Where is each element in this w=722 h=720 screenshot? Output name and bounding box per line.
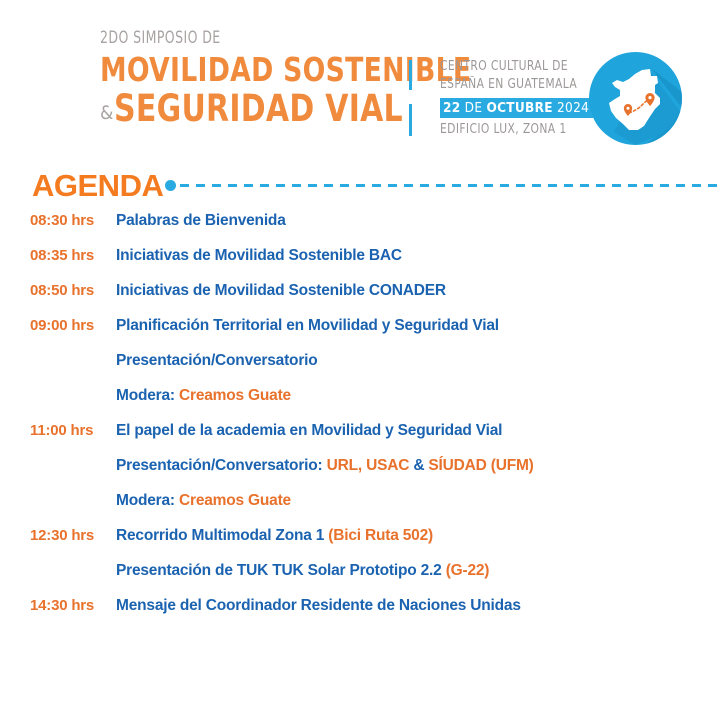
agenda-row-description: Mensaje del Coordinador Residente de Nac… xyxy=(116,597,722,615)
agenda-text-segment: Creamos Guate xyxy=(179,387,291,404)
poster-header: 2DO SIMPOSIO DE MOVILIDAD SOSTENIBLE & S… xyxy=(0,0,722,158)
agenda-row: Modera: Creamos Guate xyxy=(0,492,722,527)
agenda-text-segment: Iniciativas de Movilidad Sostenible CONA… xyxy=(116,282,446,299)
agenda-text-segment: URL, USAC xyxy=(327,457,414,474)
agenda-row-time: 08:50 hrs xyxy=(0,282,116,299)
agenda-row: Presentación de TUK TUK Solar Prototipo … xyxy=(0,562,722,597)
agenda-text-segment: Mensaje del Coordinador Residente de Nac… xyxy=(116,597,521,614)
agenda-text-segment: El papel de la academia en Movilidad y S… xyxy=(116,422,502,439)
agenda-row-time: 11:00 hrs xyxy=(0,422,116,439)
agenda-row-time: 08:30 hrs xyxy=(0,212,116,229)
map-logo-svg xyxy=(589,52,682,145)
agenda-row: Presentación/Conversatorio xyxy=(0,352,722,387)
event-kicker: 2DO SIMPOSIO DE xyxy=(100,30,346,47)
agenda-row-description: Iniciativas de Movilidad Sostenible CONA… xyxy=(116,282,722,300)
agenda-text-segment: Iniciativas de Movilidad Sostenible BAC xyxy=(116,247,402,264)
agenda-row: 08:30 hrsPalabras de Bienvenida xyxy=(0,212,722,247)
agenda-row-description: Presentación/Conversatorio: URL, USAC & … xyxy=(116,457,722,475)
agenda-text-segment: Palabras de Bienvenida xyxy=(116,212,286,229)
venue-line-1: CENTRO CULTURAL DE xyxy=(440,58,569,76)
agenda-text-segment: Modera: xyxy=(116,492,179,509)
date-de: DE xyxy=(465,100,483,116)
agenda-row-description: Palabras de Bienvenida xyxy=(116,212,722,230)
agenda-poster: 2DO SIMPOSIO DE MOVILIDAD SOSTENIBLE & S… xyxy=(0,0,722,720)
agenda-list: 08:30 hrsPalabras de Bienvenida08:35 hrs… xyxy=(0,212,722,632)
agenda-text-segment: Presentación de TUK TUK Solar Prototipo … xyxy=(116,562,446,579)
venue-info: CENTRO CULTURAL DE ESPAÑA EN GUATEMALA 2… xyxy=(440,58,580,139)
agenda-row-description: El papel de la academia en Movilidad y S… xyxy=(116,422,722,440)
agenda-text-segment: Modera: xyxy=(116,387,179,404)
agenda-text-segment: SÍUDAD (UFM) xyxy=(424,457,533,474)
agenda-row-description: Presentación de TUK TUK Solar Prototipo … xyxy=(116,562,722,580)
separator-bar-bottom xyxy=(409,104,412,136)
agenda-text-segment: Presentación/Conversatorio xyxy=(116,352,318,369)
agenda-text-segment: (Bici Ruta 502) xyxy=(328,527,433,544)
event-title-line2-wrap: & SEGURIDAD VIAL xyxy=(100,90,400,129)
agenda-row-time: 08:35 hrs xyxy=(0,247,116,264)
agenda-row: 14:30 hrsMensaje del Coordinador Residen… xyxy=(0,597,722,632)
agenda-row: Modera: Creamos Guate xyxy=(0,387,722,422)
agenda-row: Presentación/Conversatorio: URL, USAC & … xyxy=(0,457,722,492)
agenda-text-segment: Presentación/Conversatorio: xyxy=(116,457,327,474)
separator-bar-top xyxy=(409,60,412,90)
agenda-row-description: Recorrido Multimodal Zona 1 (Bici Ruta 5… xyxy=(116,527,722,545)
event-title-line1: MOVILIDAD SOSTENIBLE xyxy=(100,52,370,89)
venue-line-4: EDIFICIO LUX, ZONA 1 xyxy=(440,121,569,139)
agenda-row: 11:00 hrsEl papel de la academia en Movi… xyxy=(0,422,722,457)
agenda-row: 12:30 hrsRecorrido Multimodal Zona 1 (Bi… xyxy=(0,527,722,562)
agenda-row: 08:35 hrsIniciativas de Movilidad Sosten… xyxy=(0,247,722,282)
agenda-row-description: Planificación Territorial en Movilidad y… xyxy=(116,317,722,335)
date-day: 22 xyxy=(443,100,461,116)
agenda-heading: AGENDA xyxy=(32,170,722,201)
agenda-row-time: 14:30 hrs xyxy=(0,597,116,614)
agenda-text-segment: (G-22) xyxy=(446,562,490,579)
agenda-row: 09:00 hrsPlanificación Territorial en Mo… xyxy=(0,317,722,352)
agenda-text-segment: Recorrido Multimodal Zona 1 xyxy=(116,527,328,544)
agenda-text-segment: Creamos Guate xyxy=(179,492,291,509)
agenda-row-description: Modera: Creamos Guate xyxy=(116,492,722,510)
agenda-title: AGENDA xyxy=(32,170,163,201)
agenda-row-time: 09:00 hrs xyxy=(0,317,116,334)
agenda-dashed-rule xyxy=(180,184,722,187)
ampersand-glyph: & xyxy=(100,104,113,123)
agenda-row-description: Modera: Creamos Guate xyxy=(116,387,722,405)
agenda-row-description: Iniciativas de Movilidad Sostenible BAC xyxy=(116,247,722,265)
agenda-text-segment: & xyxy=(413,457,424,474)
event-title-line2: SEGURIDAD VIAL xyxy=(114,90,403,129)
event-logotype: 2DO SIMPOSIO DE MOVILIDAD SOSTENIBLE & S… xyxy=(100,30,400,129)
date-month: OCTUBRE xyxy=(486,100,552,116)
date-year: 2024 xyxy=(557,100,589,116)
agenda-dot-icon xyxy=(165,180,176,191)
agenda-row-description: Presentación/Conversatorio xyxy=(116,352,722,370)
agenda-row: 08:50 hrsIniciativas de Movilidad Sosten… xyxy=(0,282,722,317)
agenda-row-time: 12:30 hrs xyxy=(0,527,116,544)
guatemala-map-icon xyxy=(589,52,682,145)
event-date-badge: 22 DE OCTUBRE 2024 xyxy=(440,98,593,118)
venue-line-2: ESPAÑA EN GUATEMALA xyxy=(440,76,569,94)
agenda-text-segment: Planificación Territorial en Movilidad y… xyxy=(116,317,499,334)
